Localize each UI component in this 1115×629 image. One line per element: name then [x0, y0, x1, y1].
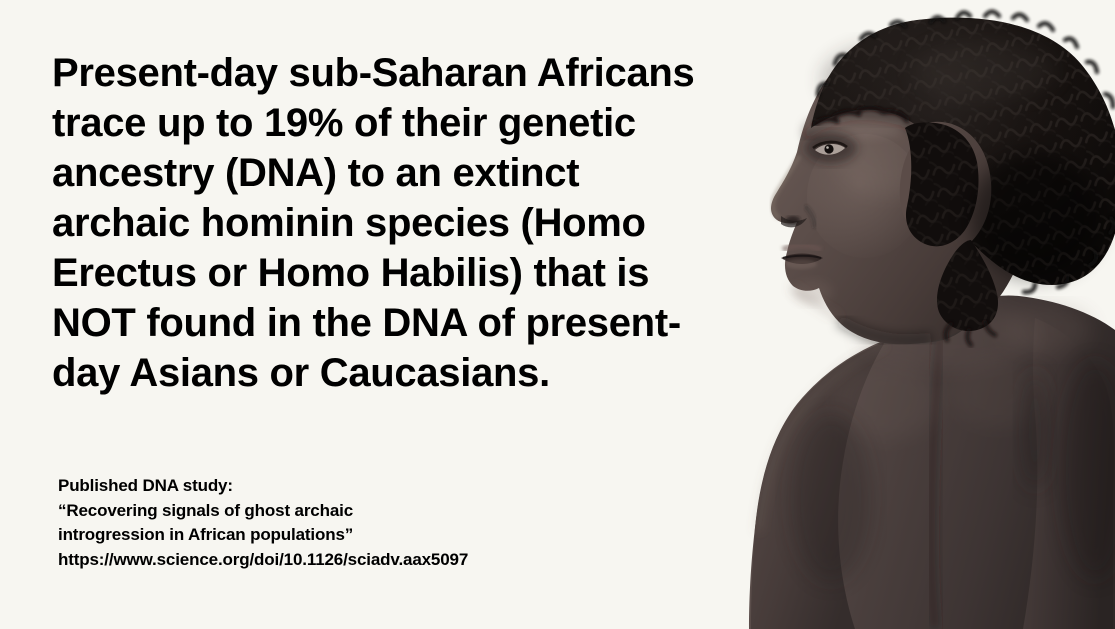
archaic-hominin-figure	[735, 0, 1115, 629]
citation-label: Published DNA study:	[58, 474, 468, 499]
citation-title-line-2: introgression in African populations”	[58, 523, 468, 548]
hominin-mouth	[781, 246, 823, 270]
citation-url: https://www.science.org/doi/10.1126/scia…	[58, 548, 468, 573]
slide-canvas: Present-day sub-Saharan Africans trace u…	[0, 0, 1115, 629]
hominin-eye	[813, 142, 847, 155]
headline-line-4: archaic hominin species (Homo	[52, 198, 762, 248]
headline-line-3: ancestry (DNA) to an extinct	[52, 148, 762, 198]
headline-line-2: trace up to 19% of their genetic	[52, 98, 762, 148]
page-title: Present-day sub-Saharan Africans trace u…	[52, 48, 762, 398]
hominin-ear	[900, 143, 947, 227]
headline-line-5: Erectus or Homo Habilis) that is	[52, 248, 762, 298]
headline-line-6: NOT found in the DNA of present-	[52, 298, 762, 348]
hominin-neck	[831, 176, 987, 343]
headline-line-7: day Asians or Caucasians.	[52, 348, 762, 398]
hominin-hair	[811, 12, 1115, 346]
citation-title-line-1: “Recovering signals of ghost archaic	[58, 499, 468, 524]
citation-block: Published DNA study: “Recovering signals…	[58, 474, 468, 572]
headline-line-1: Present-day sub-Saharan Africans	[52, 48, 762, 98]
hominin-head	[771, 24, 1034, 344]
hominin-nose	[773, 156, 815, 228]
hominin-torso	[749, 295, 1115, 629]
hominin-render-illustration	[735, 0, 1115, 629]
